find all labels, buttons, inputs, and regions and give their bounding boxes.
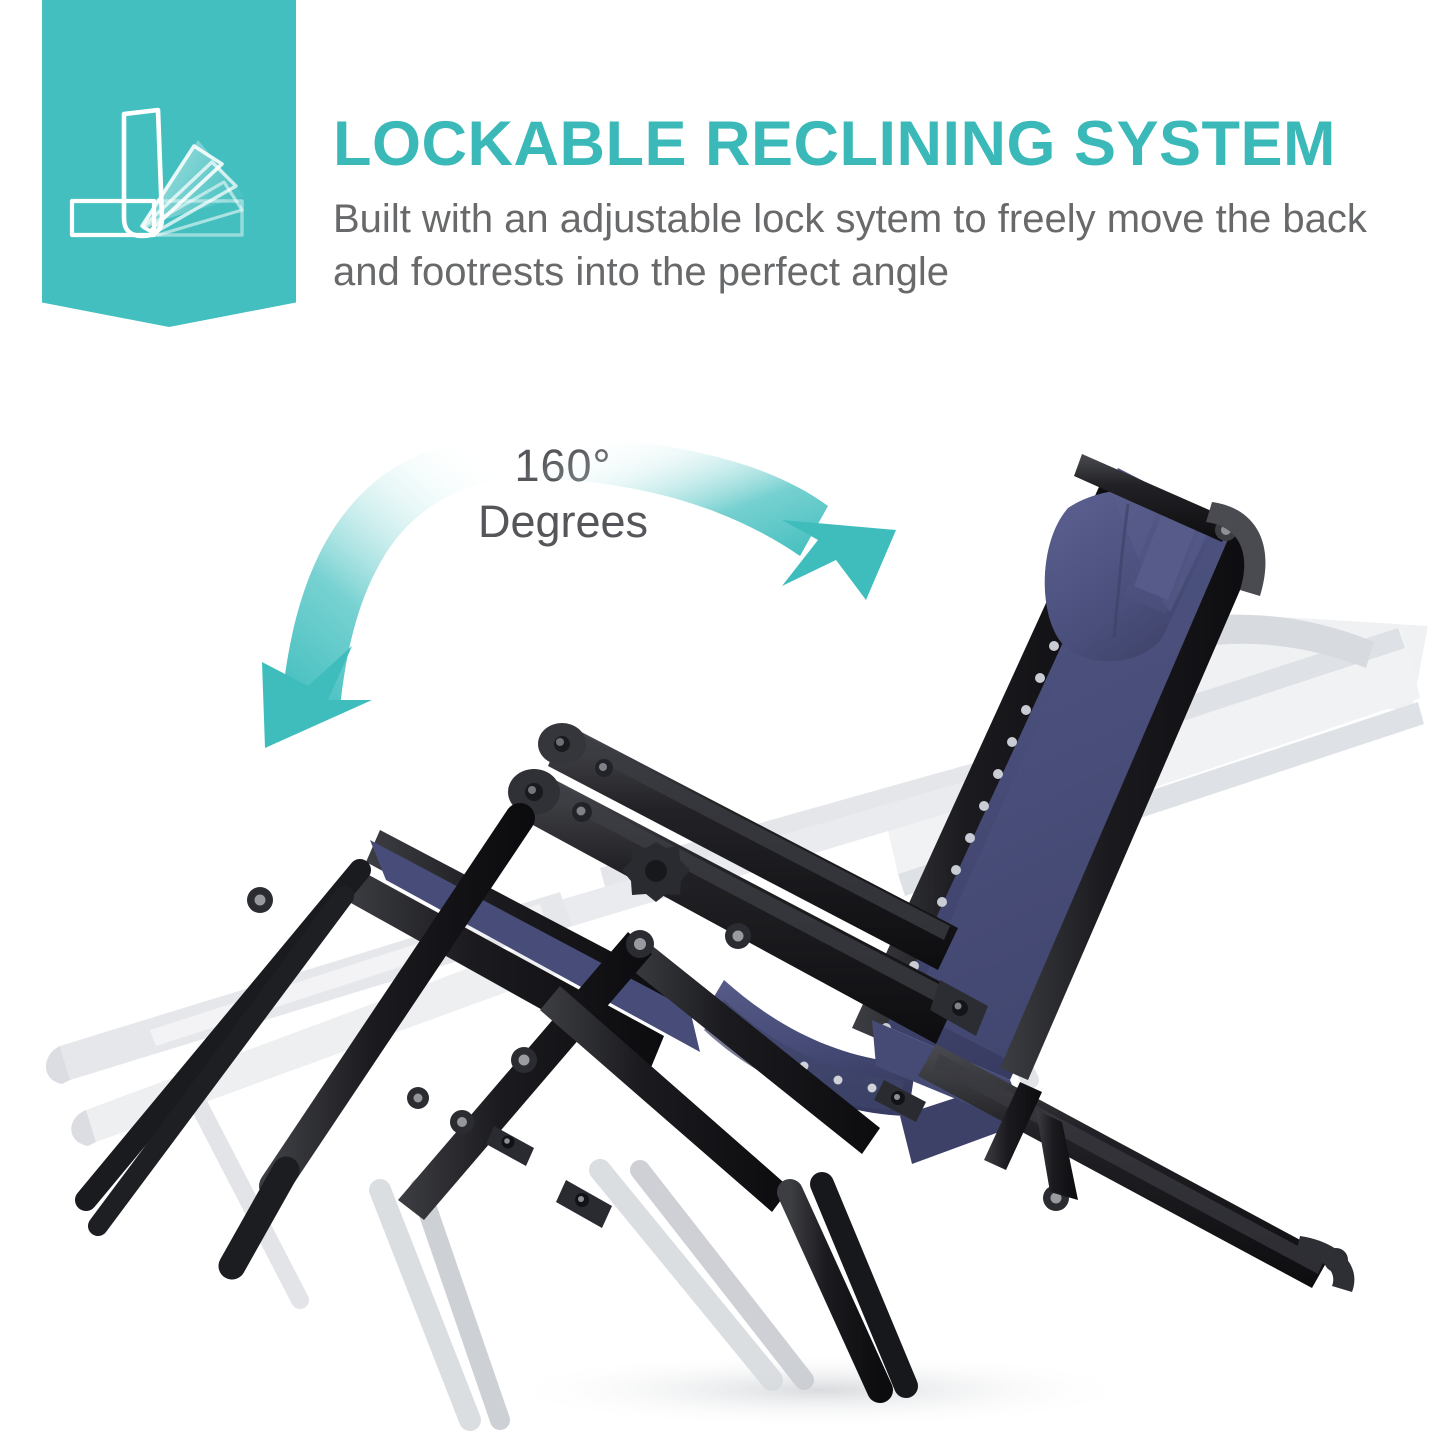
page-subtitle: Built with an adjustable lock sytem to f… [333,193,1413,299]
header-text-block: LOCKABLE RECLINING SYSTEM Built with an … [333,112,1413,298]
reclining-chair-fan-icon [66,100,274,250]
infographic-canvas: LOCKABLE RECLINING SYSTEM Built with an … [0,0,1445,1445]
feature-badge [42,0,296,327]
zero-gravity-recliner-chair [0,380,1445,1445]
floor-shadow [500,1352,1140,1428]
page-title: LOCKABLE RECLINING SYSTEM [333,112,1413,177]
